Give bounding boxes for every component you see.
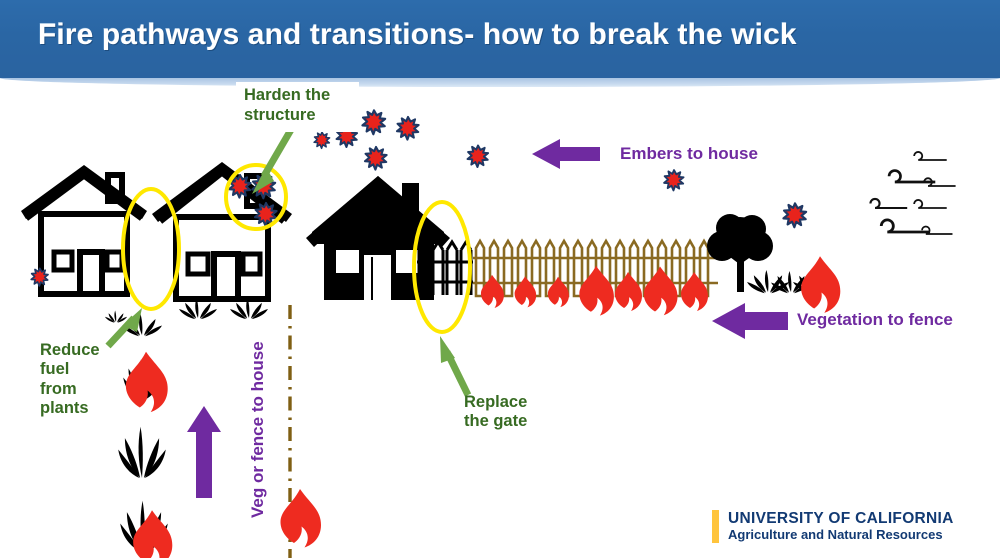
purple-arrow-icon-embers (532, 139, 600, 169)
flame-icon-right (801, 256, 840, 313)
plant-flames-group (126, 352, 172, 558)
flame-icon-property-line (281, 489, 322, 548)
wind-icon (870, 152, 955, 234)
yellow-ellipse-icon-roof (226, 165, 286, 229)
banner-underline (0, 78, 1000, 87)
yellow-ellipse-icon-house-gap (123, 189, 179, 309)
callout-replace-the-gate: Replace the gate (464, 393, 574, 432)
logo-line-university: UNIVERSITY OF CALIFORNIA (728, 510, 954, 527)
page-title: Fire pathways and transitions- how to br… (38, 18, 968, 52)
yellow-ellipse-icon-gate (414, 202, 470, 332)
uc-anr-logo: UNIVERSITY OF CALIFORNIA Agriculture and… (712, 510, 954, 543)
purple-arrow-icon-vegetation (712, 303, 788, 339)
shrub-group-under-houses (105, 298, 268, 323)
shrub-group-right (747, 270, 831, 293)
roof-embers-group (229, 174, 277, 225)
label-vegetation-to-fence: Vegetation to fence (797, 310, 953, 330)
house-outline-icon-middle (152, 162, 292, 299)
gate-icon (417, 242, 473, 295)
fence-icon (473, 241, 718, 296)
green-arrow-icon-replace-gate (440, 336, 468, 395)
label-veg-or-fence-to-house: Veg or fence to house (248, 341, 268, 518)
tree-icon (707, 214, 773, 292)
ember-icon (31, 268, 48, 286)
green-arrow-icon-harden (252, 128, 292, 194)
purple-arrow-icon-veg-to-house (187, 406, 221, 498)
callout-harden-the-structure: Harden the structure (236, 82, 359, 132)
slide-canvas: Fire pathways and transitions- how to br… (0, 0, 1000, 558)
logo-gold-bar (712, 510, 719, 543)
logo-line-division: Agriculture and Natural Resources (728, 528, 954, 543)
house-solid-icon (306, 176, 450, 300)
fence-flames-group (481, 266, 708, 316)
ember-icon-right (783, 203, 806, 227)
callout-reduce-fuel-from-plants: Reduce fuel from plants (40, 341, 128, 419)
house-outline-icon-left (21, 165, 147, 294)
label-embers-to-house: Embers to house (620, 144, 758, 164)
